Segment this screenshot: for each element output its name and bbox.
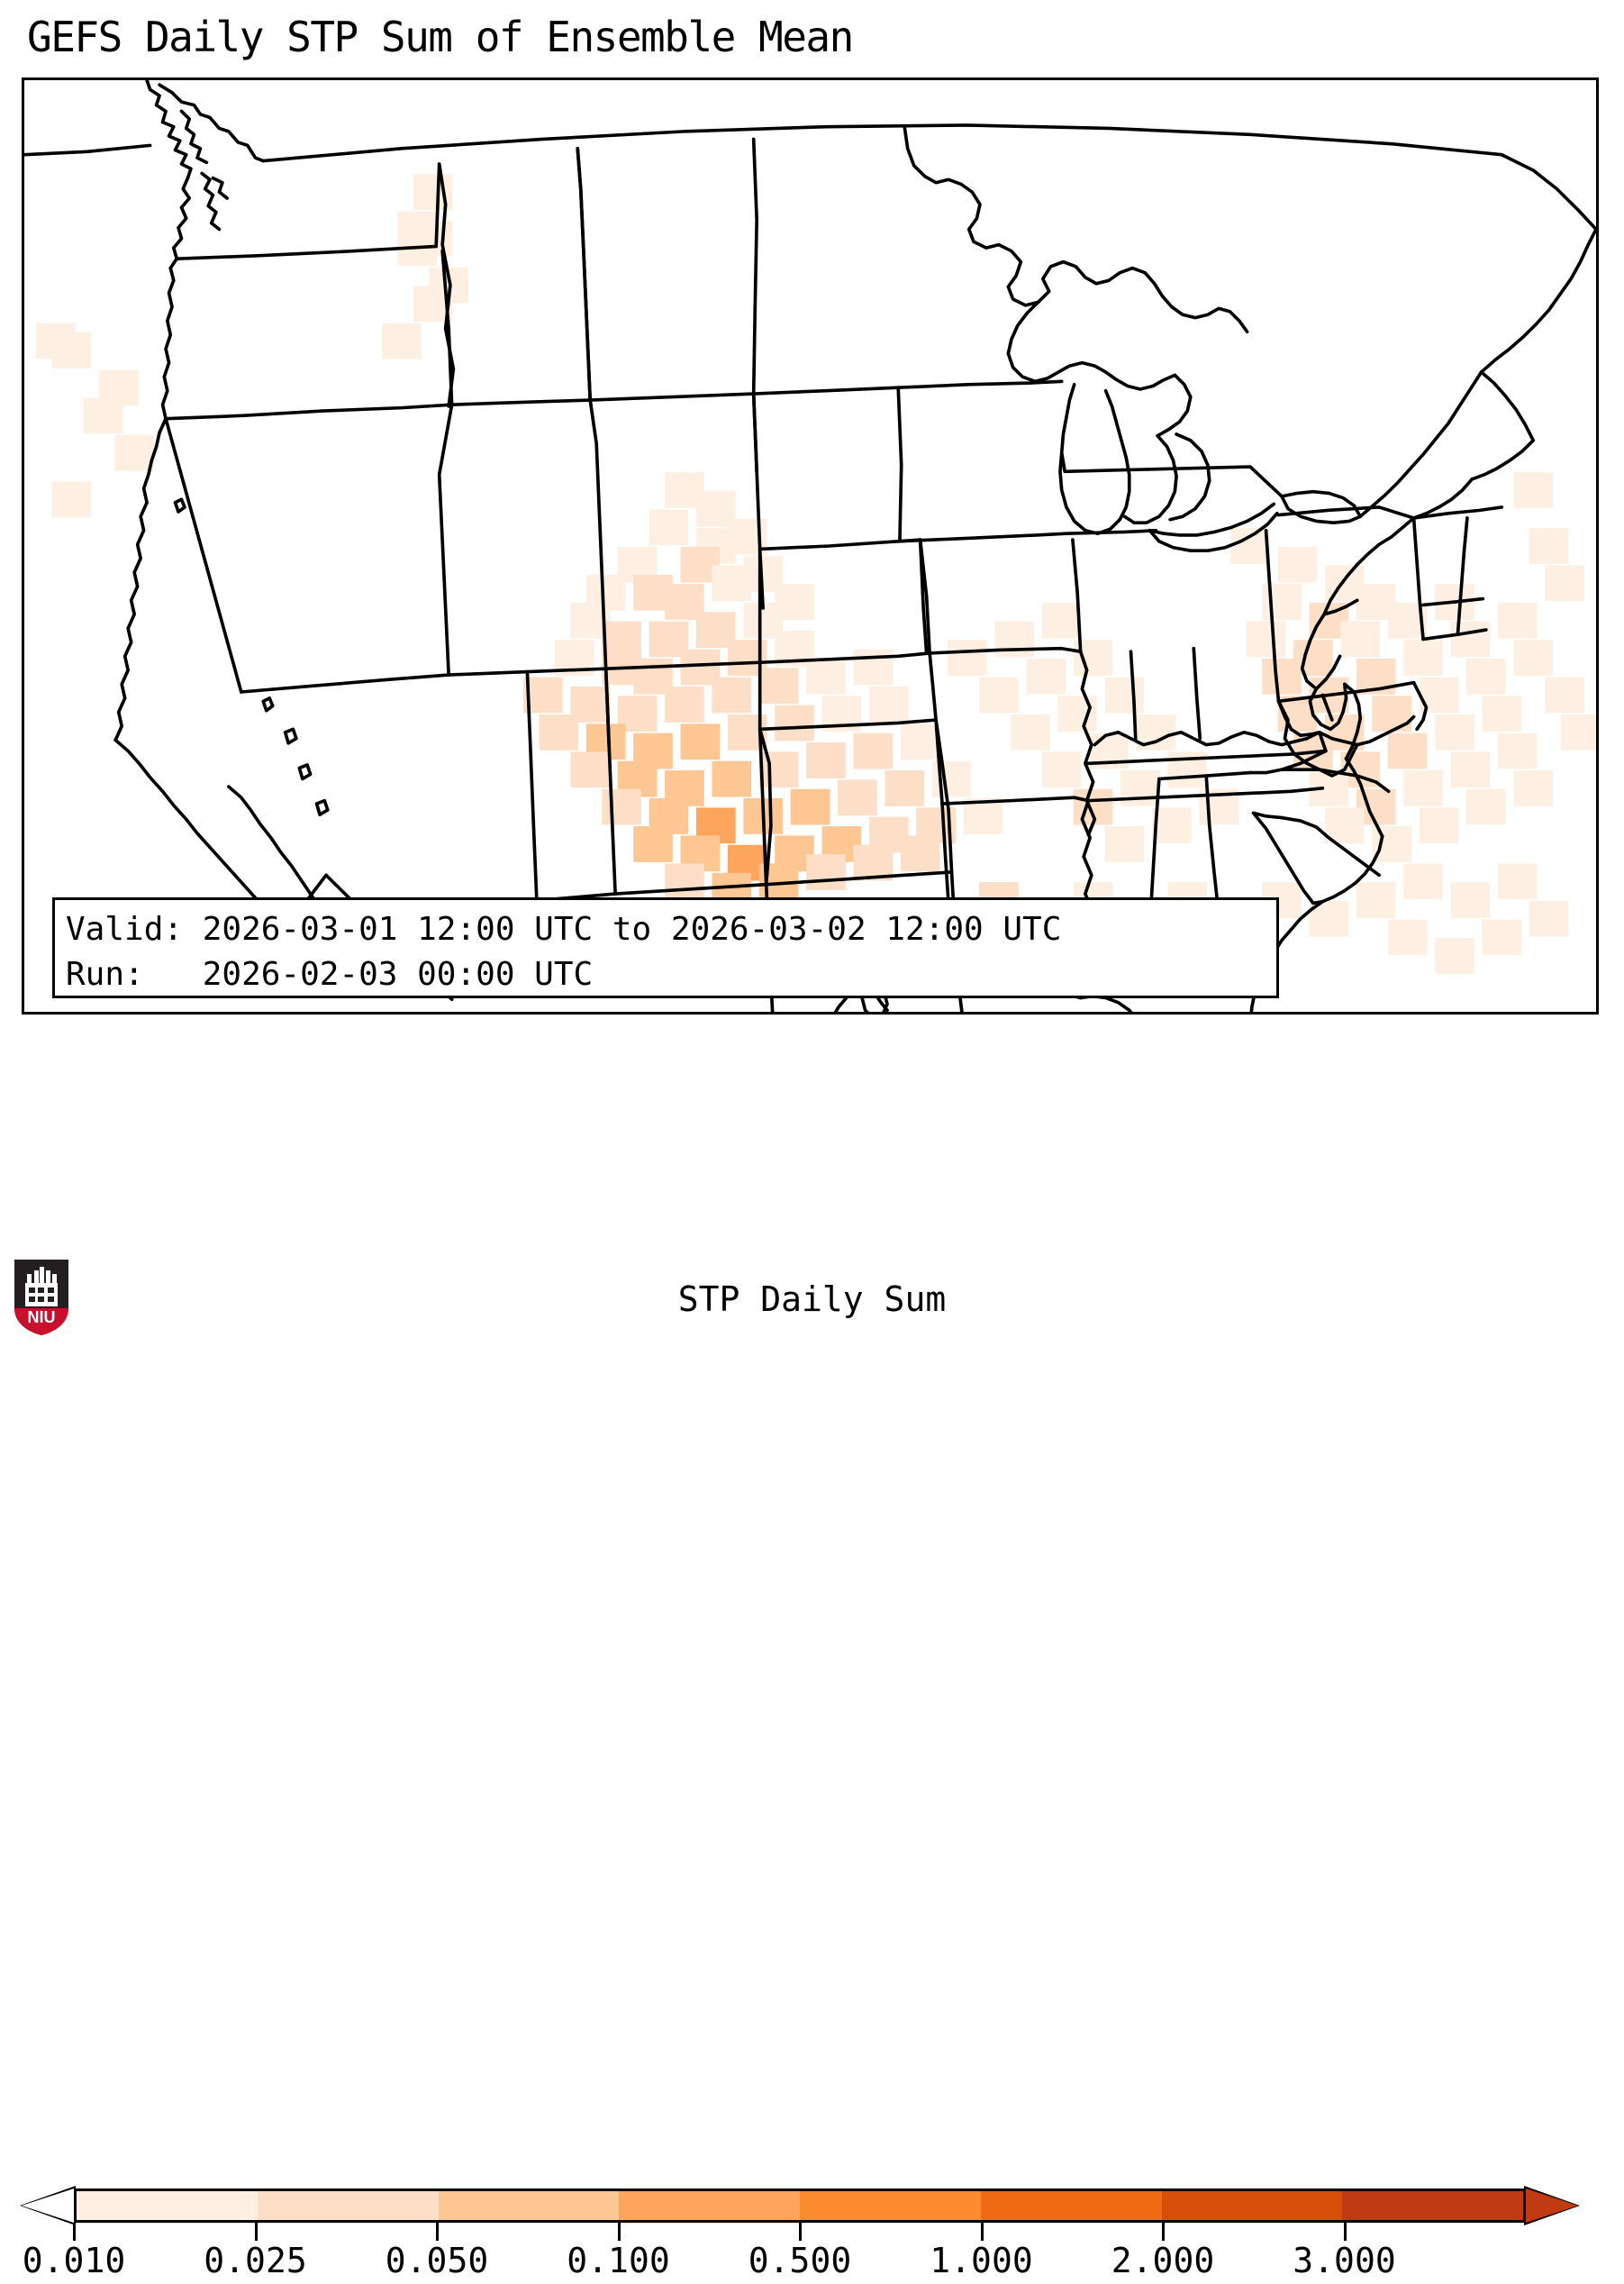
page-title: GEFS Daily STP Sum of Ensemble Mean: [27, 13, 853, 61]
colorbar-segment-2: [439, 2191, 620, 2220]
colorbar-tick-4: [799, 2223, 802, 2241]
colorbar-axis-title: STP Daily Sum: [0, 1279, 1624, 1319]
colorbar-over-arrow: [1526, 2188, 1578, 2223]
colorbar-tick-label-1: 0.025: [204, 2241, 306, 2280]
colorbar-tick-label-2: 0.050: [386, 2241, 488, 2280]
valid-time-line: Valid: 2026-03-01 12:00 UTC to 2026-03-0…: [66, 907, 1276, 952]
colorbar-tick-label-5: 1.000: [930, 2241, 1032, 2280]
colorbar-segment-4: [800, 2191, 981, 2220]
colorbar-segment-1: [258, 2191, 439, 2220]
colorbar-gradient: [74, 2188, 1526, 2223]
colorbar-tick-2: [436, 2223, 439, 2241]
niu-logo-text: NIU: [28, 1308, 56, 1326]
colorbar-tick-label-3: 0.100: [567, 2241, 669, 2280]
colorbar-tick-1: [255, 2223, 258, 2241]
colorbar-segment-3: [619, 2191, 800, 2220]
colorbar-tick-label-4: 0.500: [748, 2241, 851, 2280]
colorbar-tick-0: [73, 2223, 76, 2241]
colorbar-segment-5: [981, 2191, 1162, 2220]
colorbar-tick-label-7: 3.000: [1293, 2241, 1395, 2280]
colorbar-segment-6: [1162, 2191, 1343, 2220]
colorbar-tick-labels: 0.0100.0250.0500.1000.5001.0002.0003.000: [0, 2241, 1624, 2284]
map-plot-area: [22, 77, 1599, 1015]
colorbar-tick-label-0: 0.010: [23, 2241, 125, 2280]
colorbar-tick-7: [1344, 2223, 1347, 2241]
run-time-line: Run: 2026-02-03 00:00 UTC: [66, 952, 1276, 997]
colorbar-tick-5: [981, 2223, 984, 2241]
valid-run-annotation-box: Valid: 2026-03-01 12:00 UTC to 2026-03-0…: [52, 897, 1279, 998]
colorbar-segment-0: [77, 2191, 258, 2220]
colorbar-tick-3: [618, 2223, 621, 2241]
colorbar-under-arrow: [22, 2188, 74, 2223]
colorbar-tick-6: [1162, 2223, 1165, 2241]
map-geography: [24, 80, 1596, 1012]
colorbar-ticks: [74, 2223, 1526, 2241]
colorbar-tick-label-6: 2.000: [1111, 2241, 1214, 2280]
niu-logo: NIU: [13, 1258, 70, 1337]
colorbar-segment-7: [1342, 2191, 1523, 2220]
colorbar: 0.0100.0250.0500.1000.5001.0002.0003.000: [0, 1015, 1624, 1123]
